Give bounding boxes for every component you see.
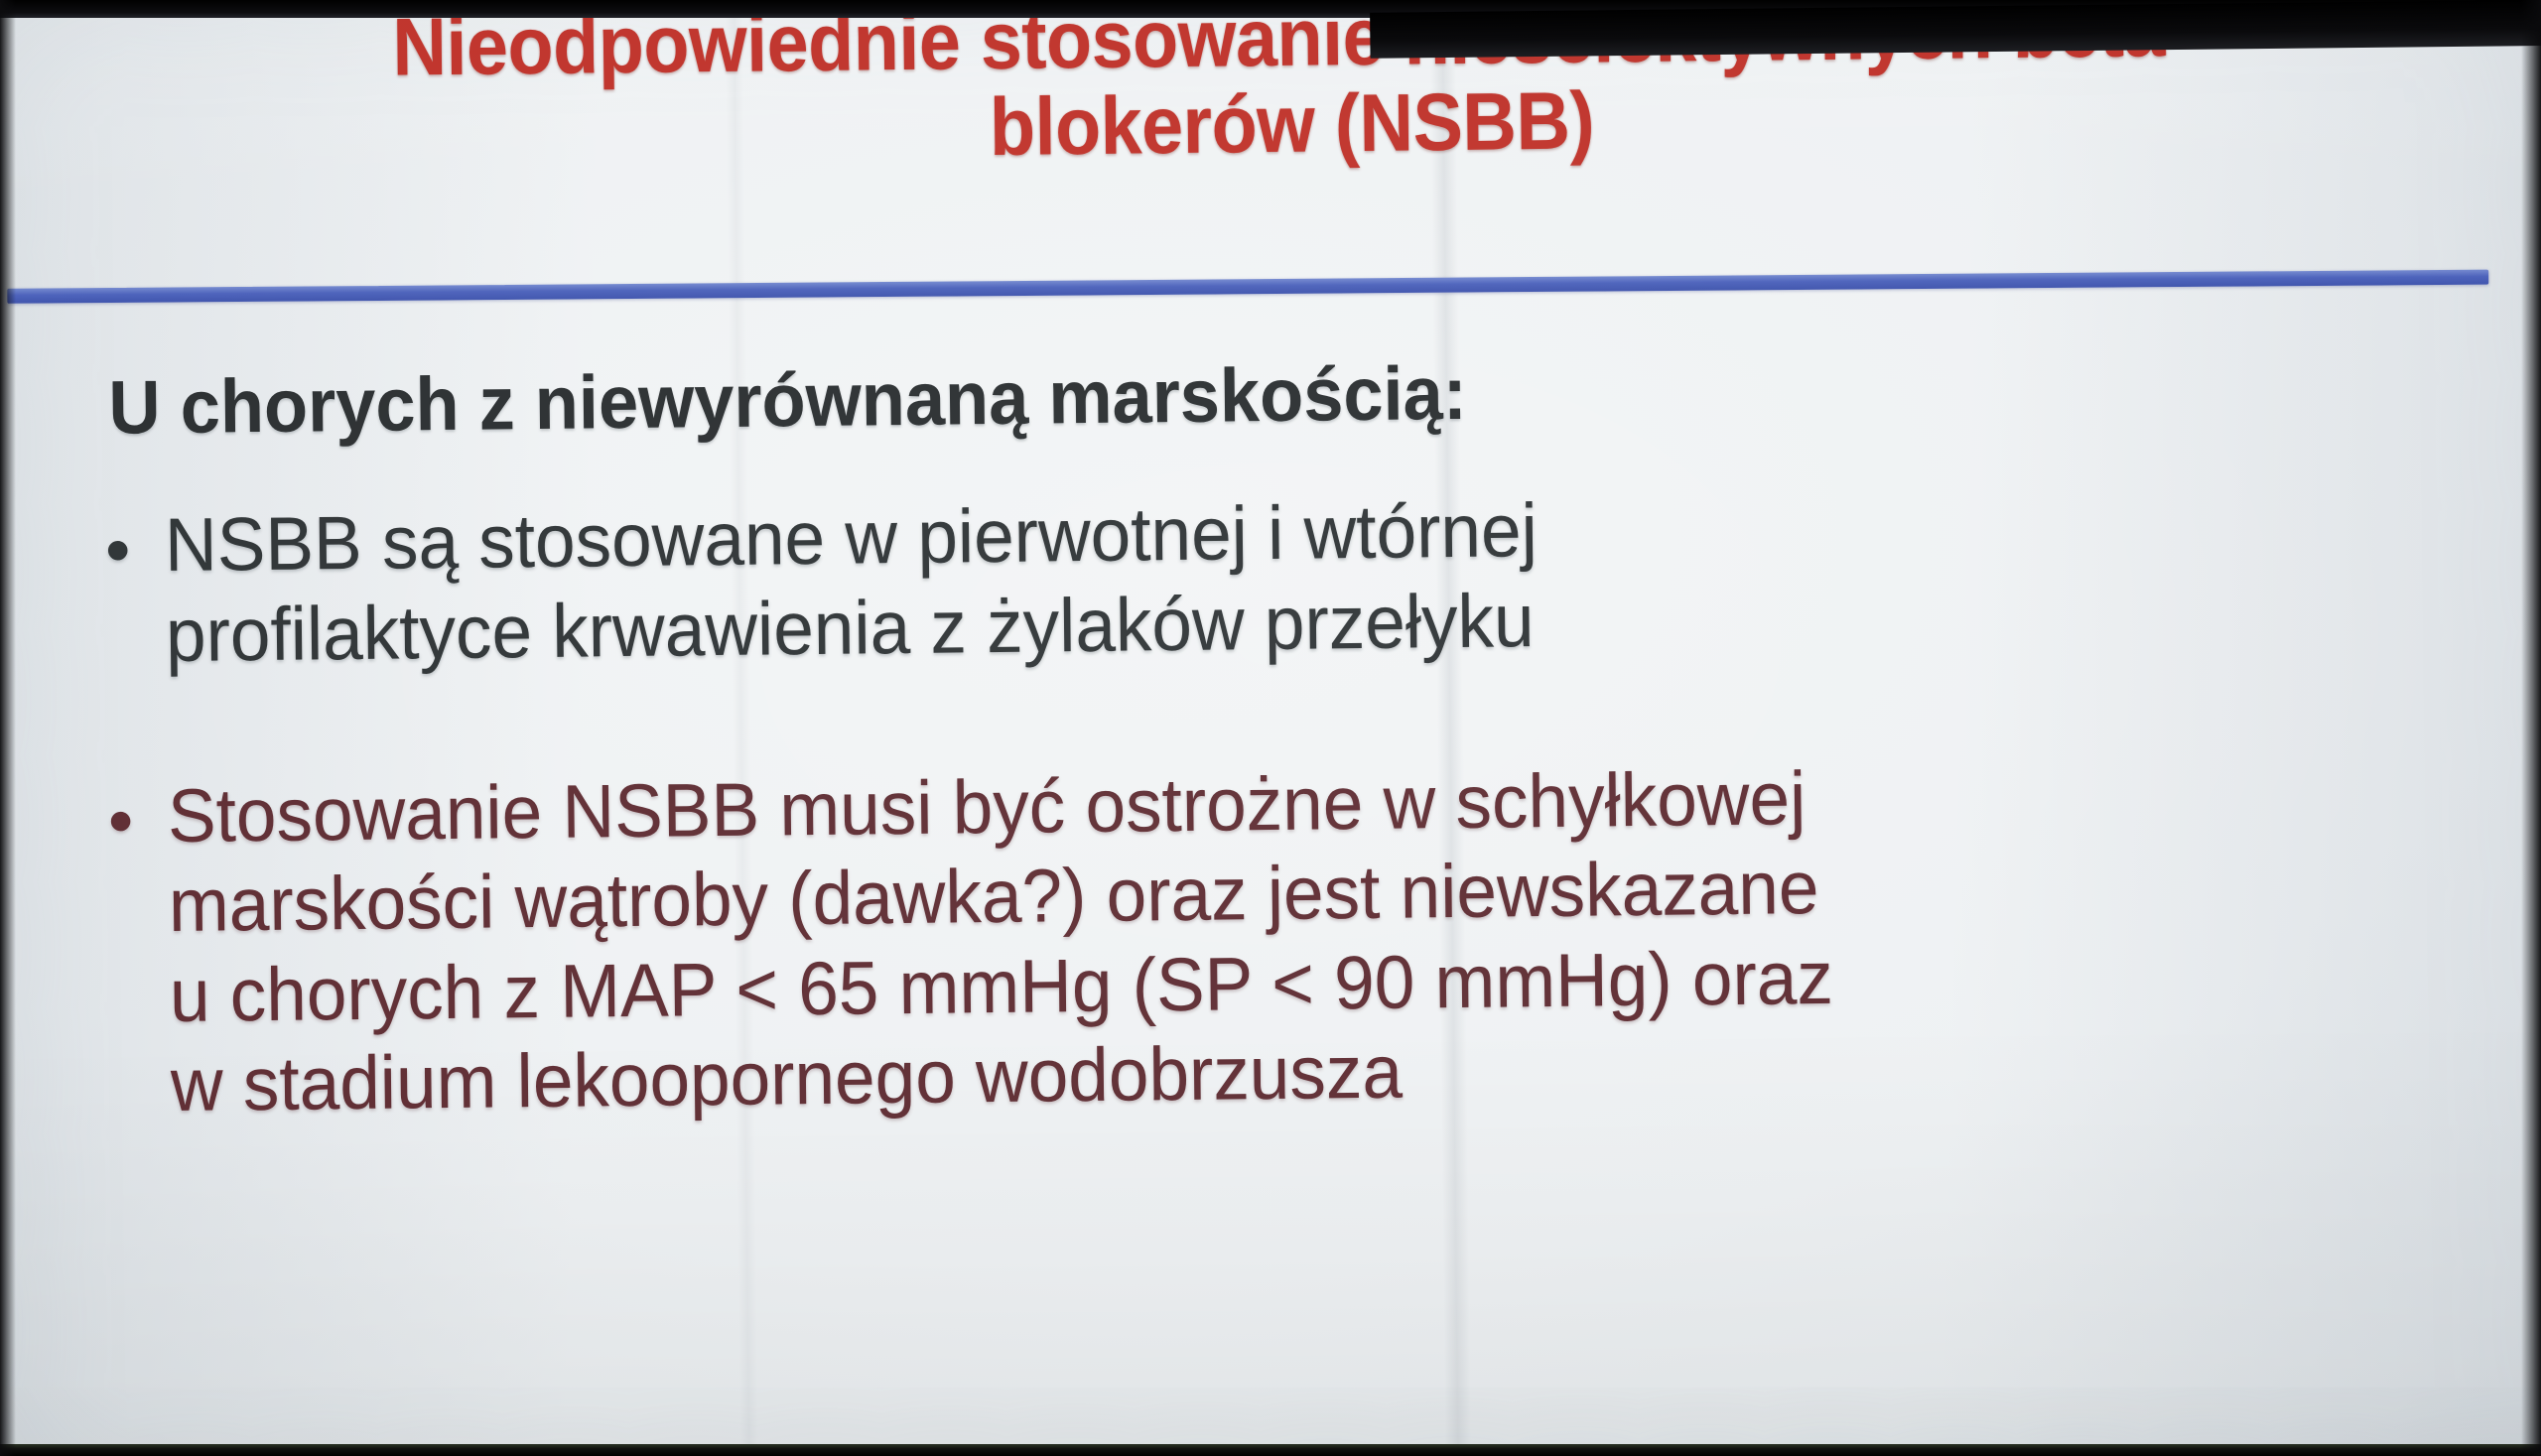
- list-item: • NSBB są stosowane w pierwotnej i wtórn…: [105, 477, 2420, 682]
- bullet-dot-icon: •: [105, 501, 166, 594]
- frame-band-right: [2521, 0, 2541, 1456]
- bullet-dot-icon: •: [108, 772, 169, 864]
- frame-band-bottom: [0, 1444, 2541, 1456]
- projected-slide-photo: Nieodpowiednie stosowanie nieselektywnyc…: [0, 0, 2541, 1456]
- slide-surface: Nieodpowiednie stosowanie nieselektywnyc…: [0, 0, 2541, 1456]
- bullet-text-2: Stosowanie NSBB musi być ostrożne w schy…: [167, 748, 2334, 1130]
- lead-heading: U chorych z niewyrównaną marskością:: [108, 341, 2396, 451]
- slide-body: U chorych z niewyrównaną marskością: • N…: [0, 339, 2523, 1132]
- frame-band-left: [0, 0, 16, 1456]
- title-divider-rule: [7, 270, 2488, 304]
- list-item: • Stosowanie NSBB musi być ostrożne w sc…: [108, 747, 2425, 1131]
- bullet-text-1: NSBB są stosowane w pierwotnej i wtórnej…: [165, 478, 2330, 681]
- slide-content: Nieodpowiednie stosowanie nieselektywnyc…: [0, 0, 2541, 1456]
